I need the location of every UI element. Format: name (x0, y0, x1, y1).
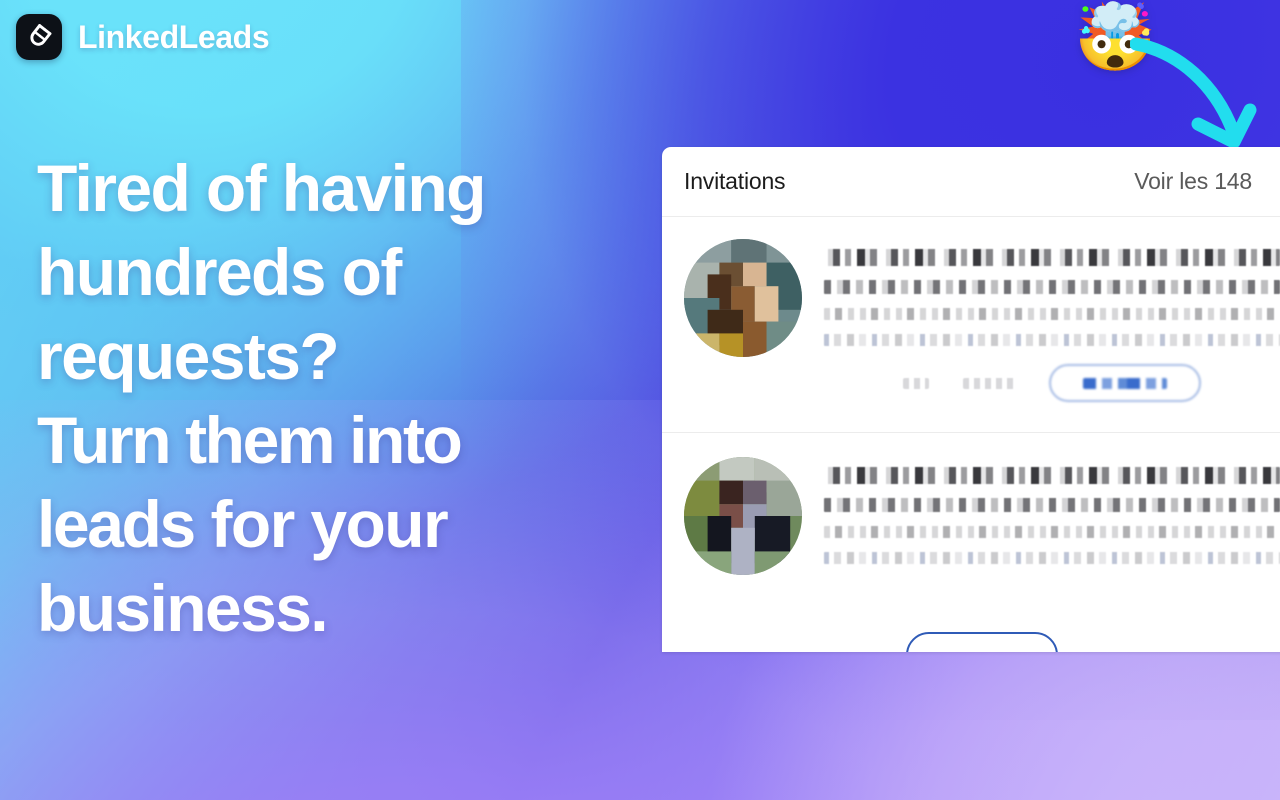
invitation-headline-redacted (824, 280, 1280, 294)
secondary-action-redacted[interactable] (963, 378, 1015, 389)
invitation-meta-redacted (824, 308, 1280, 320)
headline-line-2: hundreds of (37, 230, 637, 314)
accept-button-partial[interactable] (906, 632, 1058, 652)
accept-button-label-redacted (1083, 378, 1167, 389)
headline-line-1: Tired of having (37, 146, 637, 230)
invitation-row[interactable] (662, 432, 1280, 578)
invitation-name-redacted (824, 467, 1280, 484)
headline-line-5-rest: for your (194, 487, 447, 561)
promo-canvas: LinkedLeads Tired of having hundreds of … (0, 0, 1280, 800)
brand-lockup: LinkedLeads (16, 14, 269, 60)
invitations-title: Invitations (684, 168, 785, 195)
invitation-details (824, 457, 1280, 578)
page-title: Tired of having hundreds of requests? Tu… (37, 146, 637, 650)
magnet-icon (16, 14, 62, 60)
view-all-invitations-link[interactable]: Voir les 148 (1134, 168, 1280, 195)
invitation-note-redacted (824, 334, 1280, 346)
invitations-card: Invitations Voir les 148 (662, 147, 1280, 652)
invitation-avatar-2[interactable] (684, 457, 802, 575)
headline-line-3: requests? (37, 314, 637, 398)
brand-name: LinkedLeads (78, 19, 269, 56)
invitation-row[interactable] (662, 217, 1280, 422)
ignore-button-redacted[interactable] (903, 378, 929, 389)
invitation-meta-redacted (824, 526, 1280, 538)
invitation-details (824, 239, 1280, 422)
invitation-headline-redacted (824, 498, 1280, 512)
headline-line-4: Turn them into (37, 398, 637, 482)
accept-button-redacted[interactable] (1049, 364, 1201, 402)
headline-line-5-strong: leads (37, 487, 194, 561)
invitation-note-redacted (824, 552, 1280, 564)
headline-line-6: business. (37, 566, 637, 650)
invitation-name-redacted (824, 249, 1280, 266)
invitations-card-header: Invitations Voir les 148 (662, 147, 1280, 217)
invitation-avatar-1[interactable] (684, 239, 802, 357)
invitation-actions (824, 364, 1280, 422)
